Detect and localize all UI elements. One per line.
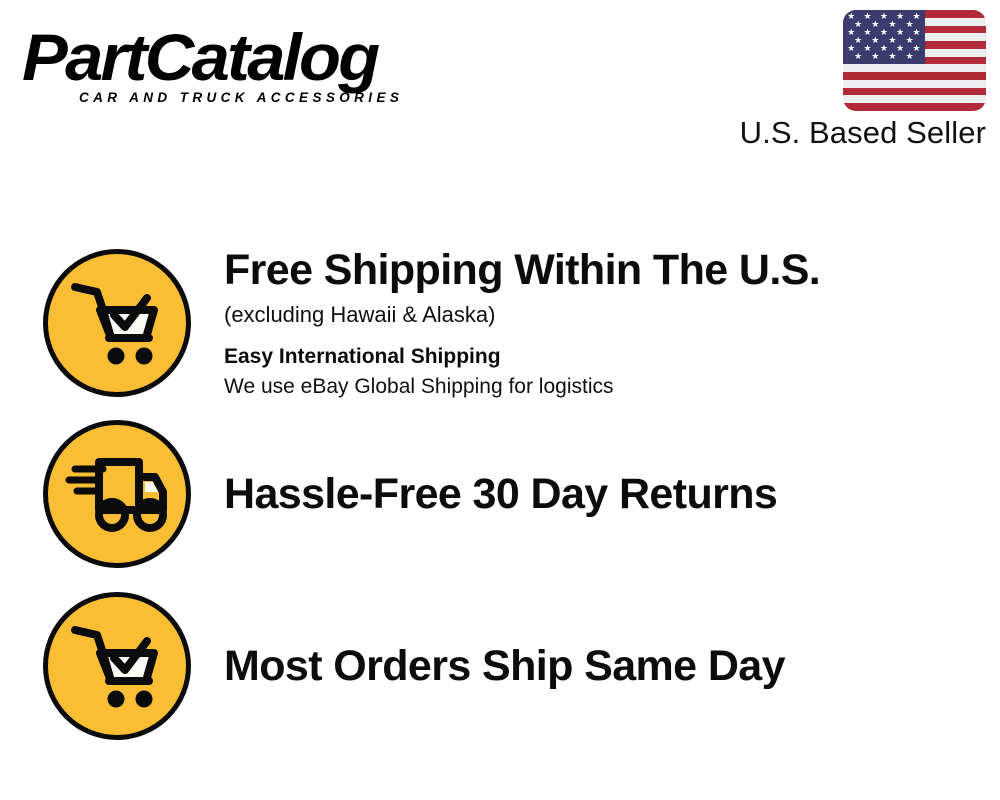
- feature-row-same-day-ship: Most Orders Ship Same Day: [0, 591, 1000, 741]
- seller-info-banner: PartCatalog CAR AND TRUCK ACCESSORIES ★★…: [0, 0, 1000, 800]
- brand-wordmark: PartCatalog: [22, 22, 511, 92]
- feature-title: Free Shipping Within The U.S.: [224, 245, 980, 295]
- feature-title: Hassle-Free 30 Day Returns: [224, 469, 980, 519]
- feature-row-free-shipping: Free Shipping Within The U.S. (excluding…: [0, 248, 1000, 398]
- feature-row-returns: Hassle-Free 30 Day Returns: [0, 419, 1000, 569]
- us-flag-icon: ★★★★★ ★★★★ ★★★★★ ★★★★ ★★★★★ ★★★★ ★: [843, 10, 986, 111]
- brand-logo: PartCatalog CAR AND TRUCK ACCESSORIES: [22, 22, 492, 114]
- feature-subtitle: (excluding Hawaii & Alaska): [224, 299, 980, 331]
- flag-canton: ★★★★★ ★★★★ ★★★★★ ★★★★ ★★★★★ ★★★★ ★: [843, 10, 925, 64]
- us-based-seller-badge: ★★★★★ ★★★★ ★★★★★ ★★★★ ★★★★★ ★★★★ ★ U.S. …: [726, 10, 986, 151]
- feature-text-block: Most Orders Ship Same Day: [224, 641, 1000, 691]
- delivery-truck-icon: [43, 420, 191, 568]
- shopping-cart-check-icon: [43, 592, 191, 740]
- us-based-seller-label: U.S. Based Seller: [726, 115, 986, 151]
- feature-title: Most Orders Ship Same Day: [224, 641, 980, 691]
- banner-header: PartCatalog CAR AND TRUCK ACCESSORIES ★★…: [0, 0, 1000, 175]
- feature-text-block: Free Shipping Within The U.S. (excluding…: [224, 245, 1000, 402]
- feature-text-block: Hassle-Free 30 Day Returns: [224, 469, 1000, 519]
- shopping-cart-check-icon: [43, 249, 191, 397]
- feature-secondary-title: Easy International Shipping: [224, 342, 980, 372]
- feature-secondary-subtitle: We use eBay Global Shipping for logistic…: [224, 372, 980, 402]
